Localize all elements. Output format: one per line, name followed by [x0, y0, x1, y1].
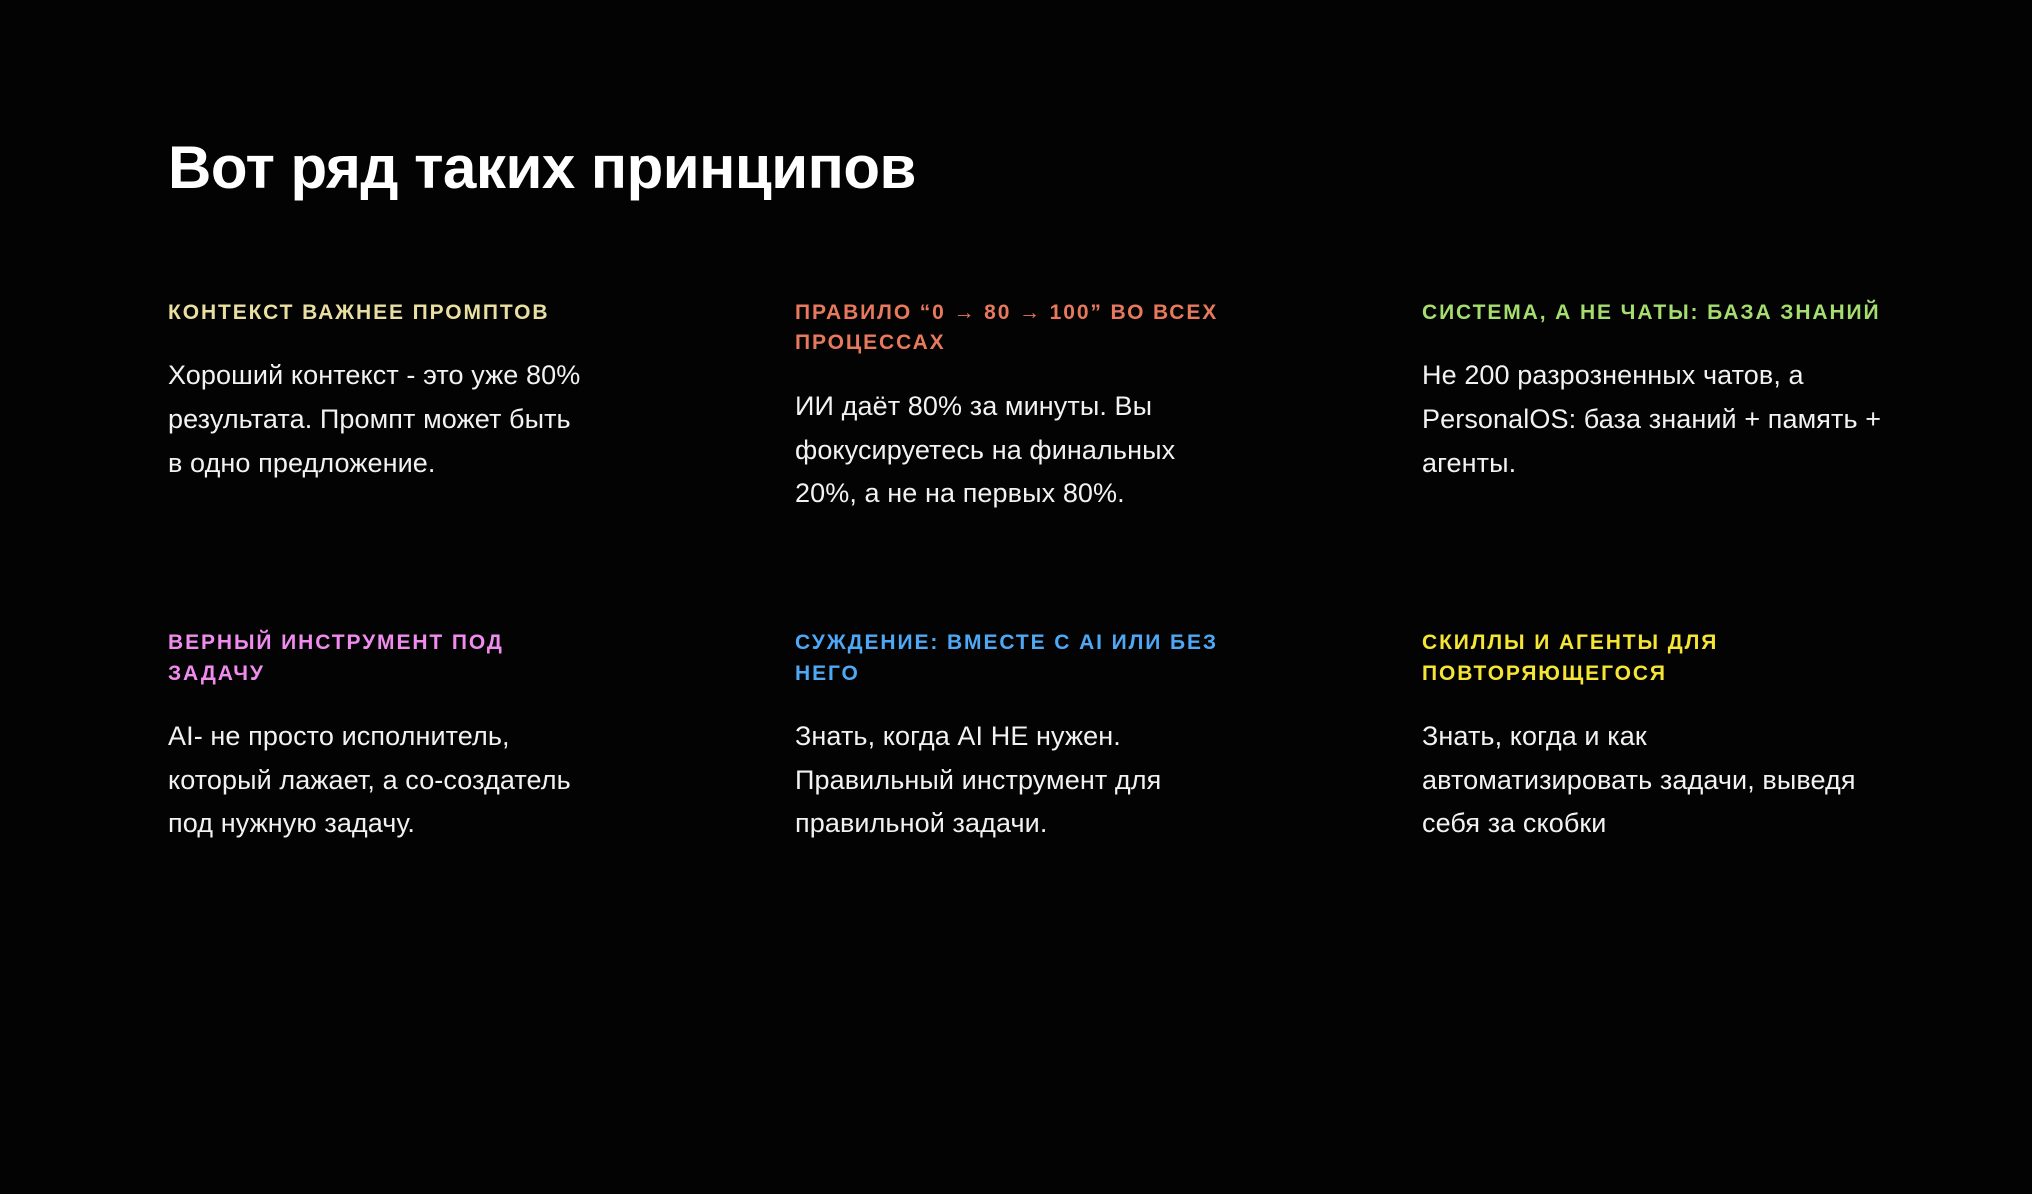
principle-heading: СИСТЕМА, А НЕ ЧАТЫ: БАЗА ЗНАНИЙ [1422, 298, 1882, 328]
principle-heading: ПРАВИЛО “0 → 80 → 100” ВО ВСЕХ ПРОЦЕССАХ [795, 298, 1255, 359]
principle-heading: СКИЛЛЫ И АГЕНТЫ ДЛЯ ПОВТОРЯЮЩЕГОСЯ [1422, 628, 1882, 689]
principle-body: Хороший контекст - это уже 80% результат… [168, 354, 588, 485]
principle-card-skills-agents: СКИЛЛЫ И АГЕНТЫ ДЛЯ ПОВТОРЯЮЩЕГОСЯ Знать… [1422, 628, 1892, 846]
principle-body: AI- не просто исполнитель, который лажае… [168, 715, 588, 846]
page-title: Вот ряд таких принципов [168, 136, 916, 201]
principle-card-judgement: СУЖДЕНИЕ: ВМЕСТЕ С AI ИЛИ БЕЗ НЕГО Знать… [795, 628, 1422, 846]
principle-body: Знать, когда и как автоматизировать зада… [1422, 715, 1882, 846]
principle-card-context: КОНТЕКСТ ВАЖНЕЕ ПРОМПТОВ Хороший контекс… [168, 298, 795, 516]
principle-heading: ВЕРНЫЙ ИНСТРУМЕНТ ПОД ЗАДАЧУ [168, 628, 598, 689]
presentation-slide: Вот ряд таких принципов КОНТЕКСТ ВАЖНЕЕ … [0, 0, 2032, 1194]
principle-card-rule-0-80-100: ПРАВИЛО “0 → 80 → 100” ВО ВСЕХ ПРОЦЕССАХ… [795, 298, 1422, 516]
principle-body: Не 200 разрозненных чатов, а PersonalOS:… [1422, 354, 1882, 485]
principle-heading: КОНТЕКСТ ВАЖНЕЕ ПРОМПТОВ [168, 298, 598, 328]
principle-body: ИИ даёт 80% за минуты. Вы фокусируетесь … [795, 385, 1215, 516]
principle-body: Знать, когда AI НЕ нужен. Правильный инс… [795, 715, 1215, 846]
principles-grid: КОНТЕКСТ ВАЖНЕЕ ПРОМПТОВ Хороший контекс… [168, 298, 1892, 846]
principle-card-right-tool: ВЕРНЫЙ ИНСТРУМЕНТ ПОД ЗАДАЧУ AI- не прос… [168, 628, 795, 846]
principle-heading: СУЖДЕНИЕ: ВМЕСТЕ С AI ИЛИ БЕЗ НЕГО [795, 628, 1255, 689]
principle-card-system-not-chats: СИСТЕМА, А НЕ ЧАТЫ: БАЗА ЗНАНИЙ Не 200 р… [1422, 298, 1892, 516]
